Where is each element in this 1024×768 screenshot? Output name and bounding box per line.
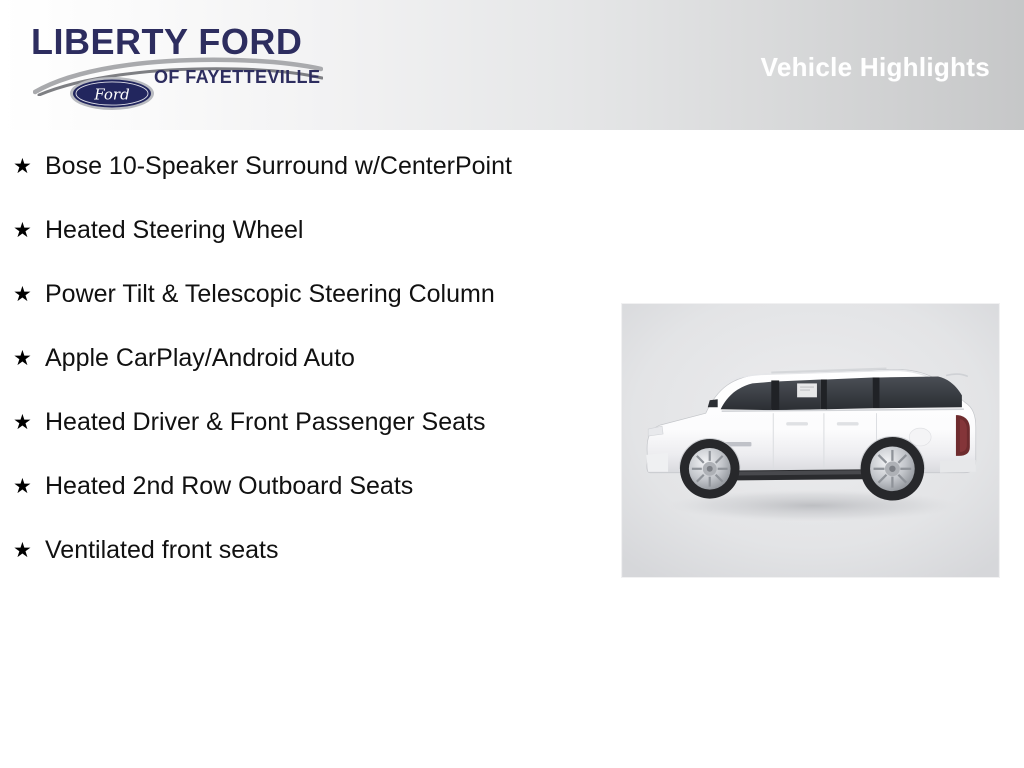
list-item-label: Apple CarPlay/Android Auto	[45, 340, 543, 376]
list-item-label: Power Tilt & Telescopic Steering Column	[45, 276, 543, 312]
list-item-label: Heated Driver & Front Passenger Seats	[45, 404, 543, 440]
list-item-label: Heated Steering Wheel	[45, 212, 543, 248]
header-band: LIBERTY FORD Ford OF FAYETTEVILLE Vehicl…	[0, 0, 1024, 130]
list-item: ★ Power Tilt & Telescopic Steering Colum…	[13, 276, 543, 312]
list-item-label: Bose 10-Speaker Surround w/CenterPoint	[45, 148, 543, 184]
star-bullet-icon: ★	[13, 212, 45, 248]
star-bullet-icon: ★	[13, 468, 45, 504]
star-bullet-icon: ★	[13, 148, 45, 184]
list-item: ★ Heated 2nd Row Outboard Seats	[13, 468, 543, 504]
list-item-label: Heated 2nd Row Outboard Seats	[45, 468, 543, 504]
page-title: Vehicle Highlights	[761, 52, 990, 83]
list-item-label: Ventilated front seats	[45, 532, 543, 568]
suv-profile-illustration	[622, 304, 999, 577]
vehicle-photo[interactable]	[621, 303, 1000, 578]
list-item: ★ Apple CarPlay/Android Auto	[13, 340, 543, 376]
star-bullet-icon: ★	[13, 340, 45, 376]
star-bullet-icon: ★	[13, 404, 45, 440]
dealer-logo-primary-text: LIBERTY FORD	[31, 24, 302, 60]
list-item: ★ Bose 10-Speaker Surround w/CenterPoint	[13, 148, 543, 184]
ford-oval-icon: Ford	[69, 76, 155, 111]
list-item: ★ Heated Driver & Front Passenger Seats	[13, 404, 543, 440]
star-bullet-icon: ★	[13, 276, 45, 312]
vehicle-highlights-list: ★ Bose 10-Speaker Surround w/CenterPoint…	[13, 148, 543, 568]
star-bullet-icon: ★	[13, 532, 45, 568]
dealer-logo-secondary-text: OF FAYETTEVILLE	[154, 68, 320, 86]
list-item: ★ Ventilated front seats	[13, 532, 543, 568]
ford-wordmark: Ford	[93, 86, 129, 104]
dealer-logo[interactable]: LIBERTY FORD Ford OF FAYETTEVILLE	[31, 24, 321, 104]
list-item: ★ Heated Steering Wheel	[13, 212, 543, 248]
